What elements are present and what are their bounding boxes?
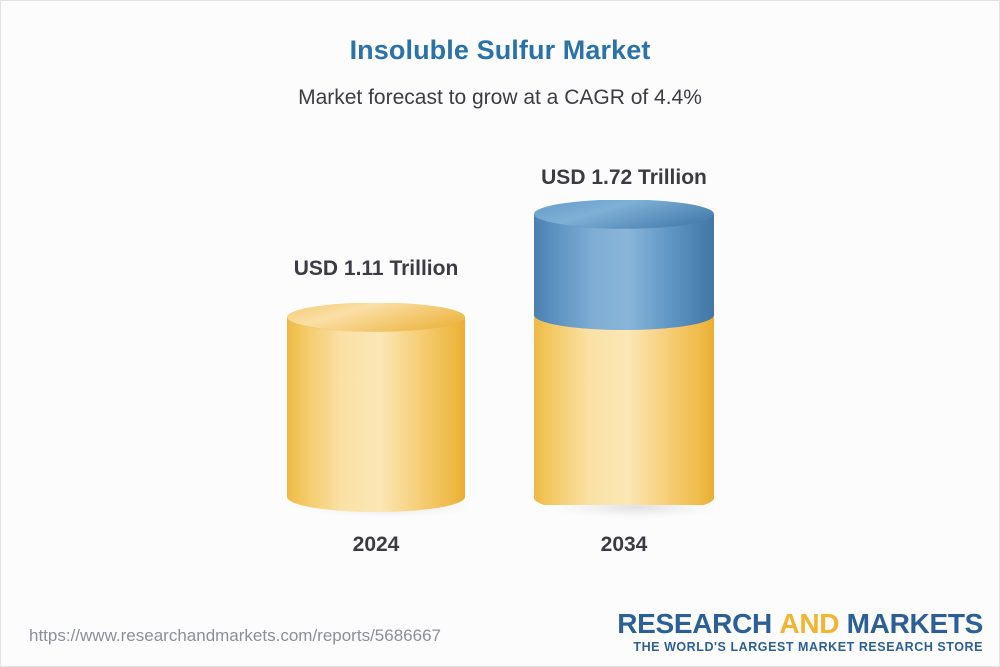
- chart-footer: https://www.researchandmarkets.com/repor…: [1, 596, 1000, 666]
- data-label-2024: USD 1.11 Trillion: [287, 257, 465, 281]
- logo-wordmark: RESEARCH AND MARKETS: [617, 609, 983, 638]
- chart-plot-area: USD 1.11 Trillion: [1, 1, 1000, 601]
- logo-word-research: RESEARCH: [617, 608, 772, 639]
- data-label-2034: USD 1.72 Trillion: [534, 166, 714, 190]
- logo-word-markets: MARKETS: [847, 608, 983, 639]
- logo-tagline: THE WORLD'S LARGEST MARKET RESEARCH STOR…: [617, 638, 983, 655]
- category-label-2024: 2024: [287, 533, 465, 557]
- bar-group-2024: USD 1.11 Trillion: [287, 1, 465, 601]
- bar-group-2034: USD 1.72 Trillion: [534, 1, 714, 601]
- source-url[interactable]: https://www.researchandmarkets.com/repor…: [29, 626, 441, 646]
- cylinder-bar-2034: [534, 200, 714, 520]
- logo-word-and: AND: [779, 608, 839, 639]
- research-and-markets-logo[interactable]: RESEARCH AND MARKETS THE WORLD'S LARGEST…: [617, 609, 983, 655]
- cylinder-bar-2024: [287, 303, 465, 519]
- infographic-card: Insoluble Sulfur Market Market forecast …: [0, 0, 1000, 667]
- category-label-2034: 2034: [534, 533, 714, 557]
